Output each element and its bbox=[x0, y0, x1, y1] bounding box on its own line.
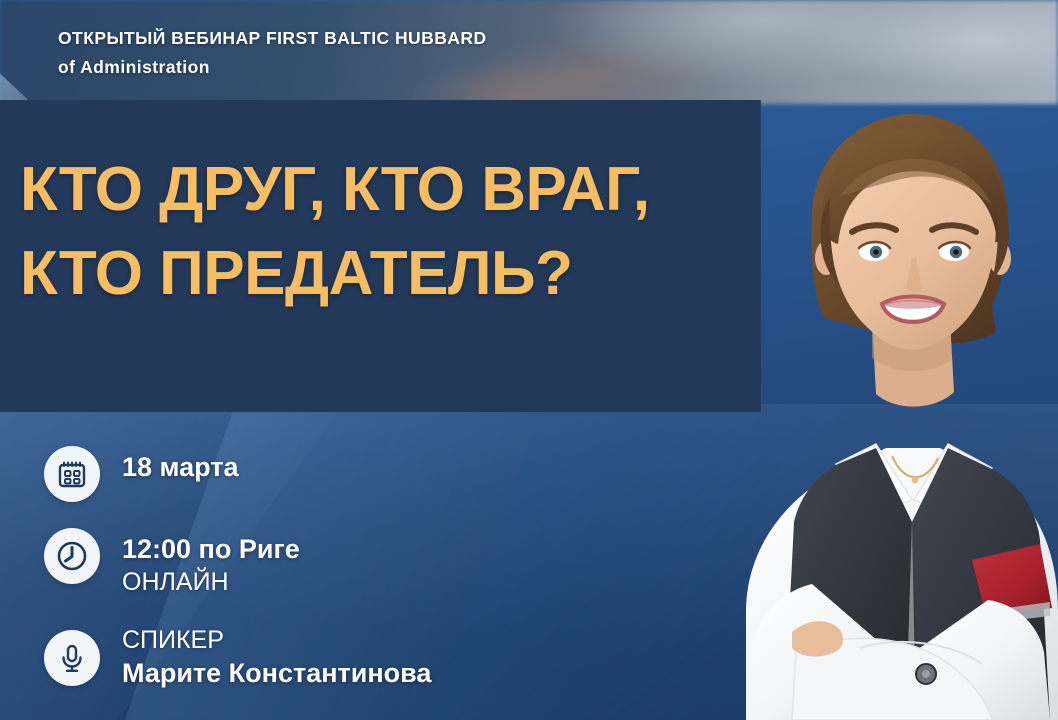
webinar-poster: ОТКРЫТЫЙ ВЕБИНАР FIRST BALTIC HUBBARD of… bbox=[0, 0, 1058, 720]
portrait-necklace-pendant bbox=[912, 477, 919, 484]
header: ОТКРЫТЫЙ ВЕБИНАР FIRST BALTIC HUBBARD of… bbox=[58, 24, 698, 82]
header-line-2: of Administration bbox=[58, 53, 698, 82]
event-speaker-row: СПИКЕР Марите Константинова bbox=[44, 624, 431, 690]
event-time-value: 12:00 по Риге bbox=[122, 532, 300, 566]
page-title: КТО ДРУГ, КТО ВРАГ, КТО ПРЕДАТЕЛЬ? bbox=[20, 148, 650, 316]
event-details: 18 марта 12:00 по Риге ОНЛАЙН bbox=[44, 446, 431, 690]
portrait-pupil-right bbox=[953, 249, 959, 255]
event-date-text: 18 марта bbox=[122, 446, 239, 484]
calendar-icon bbox=[44, 446, 100, 502]
event-date-row: 18 марта bbox=[44, 446, 431, 502]
portrait-pupil-left bbox=[873, 249, 879, 255]
event-time-row: 12:00 по Риге ОНЛАЙН bbox=[44, 528, 431, 598]
clock-icon bbox=[44, 528, 100, 584]
header-line-1: ОТКРЫТЫЙ ВЕБИНАР FIRST BALTIC HUBBARD bbox=[58, 24, 698, 53]
event-time-text: 12:00 по Риге ОНЛАЙН bbox=[122, 528, 300, 598]
event-date-value: 18 марта bbox=[122, 450, 239, 484]
speaker-name: Марите Константинова bbox=[122, 656, 431, 690]
event-format-value: ОНЛАЙН bbox=[122, 566, 300, 598]
title-line-2: КТО ПРЕДАТЕЛЬ? bbox=[20, 232, 650, 316]
speaker-portrait bbox=[700, 92, 1058, 720]
portrait-vest-button-center bbox=[922, 670, 930, 678]
microphone-icon bbox=[44, 630, 100, 686]
event-speaker-text: СПИКЕР Марите Константинова bbox=[122, 624, 431, 690]
speaker-label: СПИКЕР bbox=[122, 624, 431, 656]
title-line-1: КТО ДРУГ, КТО ВРАГ, bbox=[20, 148, 650, 232]
